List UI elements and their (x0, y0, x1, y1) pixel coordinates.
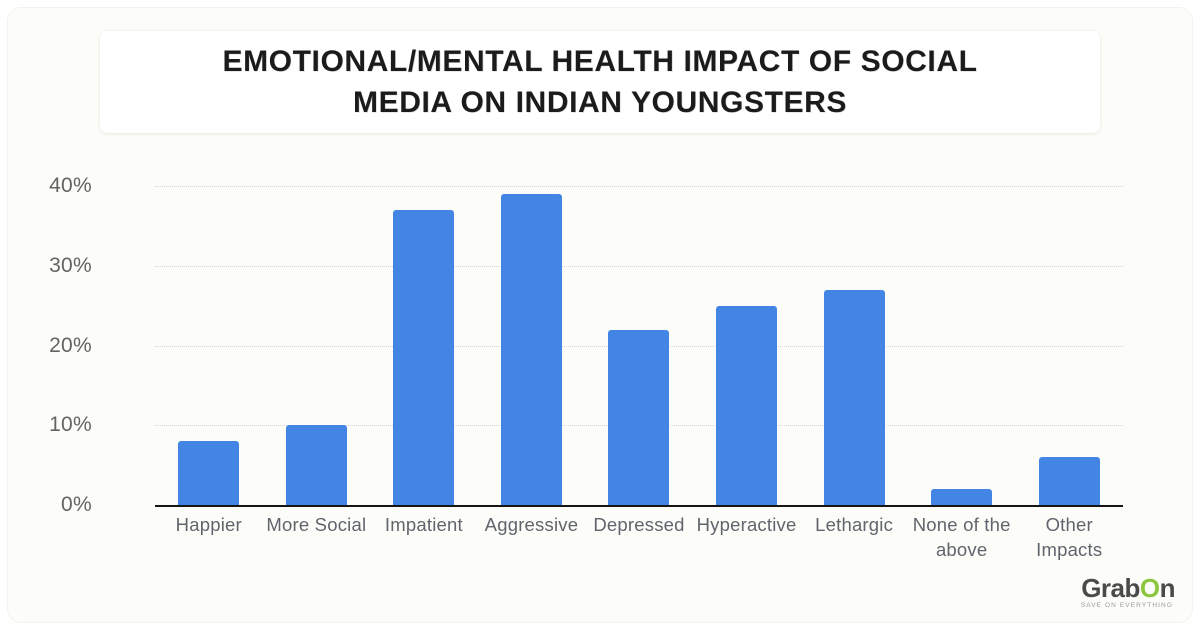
logo-text-n: n (1160, 573, 1175, 603)
bar-slot (693, 186, 801, 505)
grabon-logo-tagline: SAVE ON EVERYTHING (1081, 603, 1175, 610)
infographic-canvas: EMOTIONAL/MENTAL HEALTH IMPACT OF SOCIAL… (7, 7, 1193, 623)
logo-text-grab: Grab (1081, 573, 1140, 603)
x-axis-category-label: Aggressive (478, 512, 586, 537)
x-axis-category-label: None of the above (908, 512, 1016, 562)
bar[interactable] (931, 489, 992, 505)
y-axis-tick-label: 40% (7, 174, 92, 198)
bar-slot (800, 186, 908, 505)
screenshot-frame: EMOTIONAL/MENTAL HEALTH IMPACT OF SOCIAL… (0, 0, 1200, 630)
grabon-logo[interactable]: GrabOn SAVE ON EVERYTHING (1081, 575, 1175, 610)
x-axis-category-label: More Social (263, 512, 371, 537)
x-axis-category-label: Happier (155, 512, 263, 537)
y-axis-tick-label: 20% (7, 334, 92, 358)
x-axis-category-label: Lethargic (800, 512, 908, 537)
bar[interactable] (608, 330, 669, 505)
bar-slot (1015, 186, 1123, 505)
bar[interactable] (393, 210, 454, 505)
bar[interactable] (716, 306, 777, 505)
x-axis-line (155, 505, 1123, 507)
x-axis-category-label: Hyperactive (693, 512, 801, 537)
bar[interactable] (286, 425, 347, 505)
bar-slot (370, 186, 478, 505)
bar-chart: HappierMore SocialImpatientAggressiveDep… (7, 7, 1193, 623)
bar-slot (908, 186, 1016, 505)
x-axis-category-label: Other Impacts (1015, 512, 1123, 562)
bar-slot (155, 186, 263, 505)
bar[interactable] (501, 194, 562, 505)
logo-text-o: O (1140, 573, 1160, 603)
x-axis-category-label: Impatient (370, 512, 478, 537)
bar-slot (585, 186, 693, 505)
bars-group (155, 186, 1123, 505)
bar[interactable] (178, 441, 239, 505)
bar[interactable] (824, 290, 885, 505)
x-axis-labels: HappierMore SocialImpatientAggressiveDep… (155, 512, 1123, 582)
y-axis-tick-label: 0% (7, 493, 92, 517)
bar[interactable] (1039, 457, 1100, 505)
y-axis-tick-label: 30% (7, 254, 92, 278)
grabon-logo-wordmark: GrabOn (1081, 575, 1175, 601)
y-axis-tick-label: 10% (7, 413, 92, 437)
x-axis-category-label: Depressed (585, 512, 693, 537)
bar-slot (478, 186, 586, 505)
bar-slot (263, 186, 371, 505)
